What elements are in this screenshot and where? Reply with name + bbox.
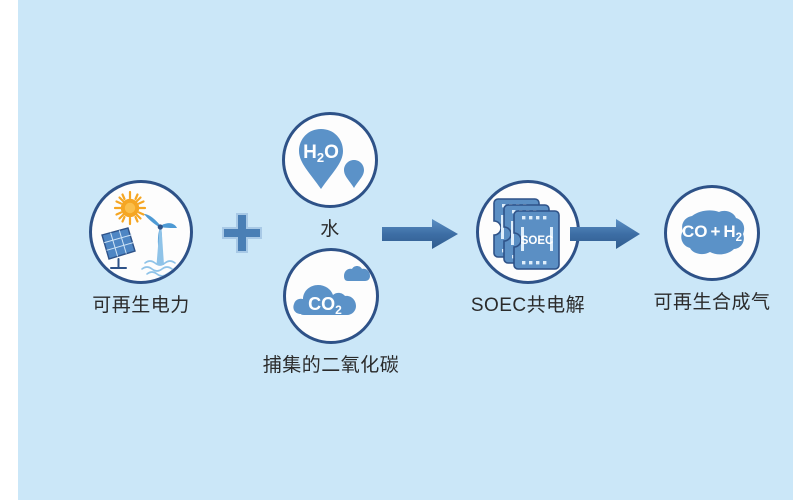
syngas-cloud-icon: CO+H2	[667, 188, 757, 278]
node-water[interactable]: H2O 水	[270, 112, 390, 242]
soec-circle: SOEC	[476, 180, 580, 284]
soec-stack-icon: SOEC	[479, 183, 577, 281]
node-soec-label: SOEC共电解	[461, 294, 595, 318]
solar-wind-icon	[92, 183, 190, 281]
arrow-to-soec	[380, 214, 460, 254]
node-renewable-syngas[interactable]: CO+H2 可再生合成气	[645, 185, 779, 315]
captured-co2-circle: CO2	[283, 248, 379, 344]
water-circle: H2O	[282, 112, 378, 208]
spacer	[645, 281, 779, 291]
syngas-formula: CO+H2	[682, 222, 742, 244]
node-water-label: 水	[270, 218, 390, 242]
sun-icon	[115, 192, 145, 224]
co2-cloud-icon: CO2	[286, 251, 376, 341]
wind-turbine-icon	[144, 214, 177, 265]
renewable-power-circle	[89, 180, 193, 284]
arrow-right-icon	[568, 214, 642, 254]
node-captured-co2[interactable]: CO2 捕集的二氧化碳	[256, 248, 406, 378]
spacer	[256, 344, 406, 354]
node-renewable-power-label: 可再生电力	[76, 294, 206, 318]
water-droplet-icon: H2O	[285, 115, 375, 205]
arrow-to-syngas	[568, 214, 642, 254]
soec-card-text: SOEC	[521, 235, 554, 247]
small-droplet	[344, 160, 364, 188]
spacer	[270, 208, 390, 218]
node-renewable-syngas-label: 可再生合成气	[645, 291, 779, 315]
spacer	[461, 284, 595, 294]
node-captured-co2-label: 捕集的二氧化碳	[256, 354, 406, 378]
node-renewable-power[interactable]: 可再生电力	[76, 180, 206, 318]
spacer	[76, 284, 206, 294]
soec-card-front: SOEC	[514, 211, 559, 269]
arrow-right-icon	[380, 214, 460, 254]
diagram-canvas: 可再生电力 H2O 水	[18, 0, 793, 500]
solar-panel-icon	[102, 228, 135, 268]
small-cloud	[344, 266, 370, 281]
renewable-syngas-circle: CO+H2	[664, 185, 760, 281]
